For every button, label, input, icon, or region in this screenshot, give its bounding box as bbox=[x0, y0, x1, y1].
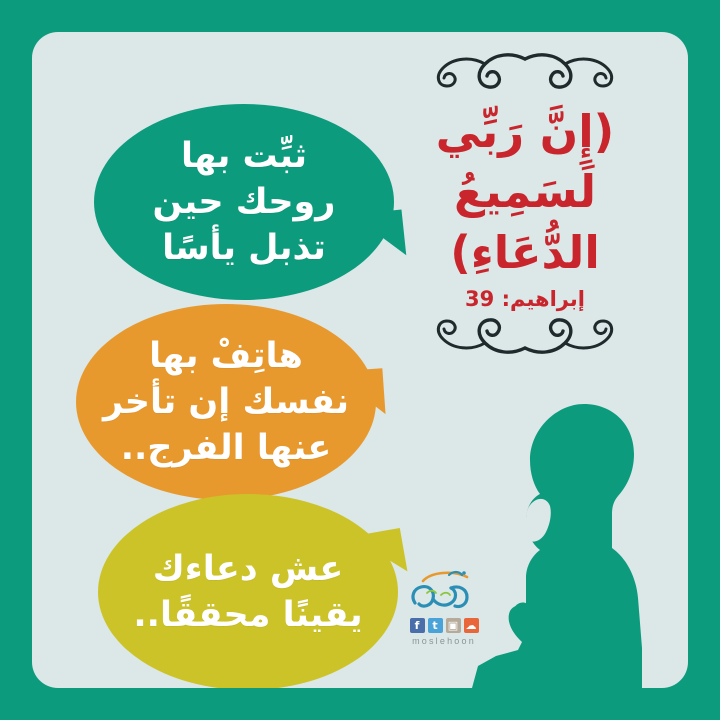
speech-bubble-teal[interactable]: ثبِّت بها روحك حين تذبل يأسًا bbox=[94, 104, 394, 300]
twitter-icon[interactable]: t bbox=[428, 618, 443, 633]
speech-bubble-yellow[interactable]: عش دعاءك يقينًا محققًا.. bbox=[98, 494, 398, 688]
verse-column: (إِنَّ رَبِّي لَسَمِيعُ الدُّعَاءِ) إبرا… bbox=[384, 50, 666, 357]
instagram-icon[interactable]: ▣ bbox=[446, 618, 461, 633]
speech-bubble-orange-text: هاتِفْ بها نفسك إن تأخر عنها الفرج.. bbox=[76, 333, 376, 472]
verse-reference: إبراهيم: 39 bbox=[384, 287, 666, 311]
speech-bubble-teal-text: ثبِّت بها روحك حين تذبل يأسًا bbox=[94, 133, 394, 272]
poster-card: (إِنَّ رَبِّي لَسَمِيعُ الدُّعَاءِ) إبرا… bbox=[32, 32, 688, 688]
poster-root: (إِنَّ رَبِّي لَسَمِيعُ الدُّعَاءِ) إبرا… bbox=[0, 0, 720, 720]
social-links-row[interactable]: f t ▣ ☁ bbox=[384, 618, 504, 633]
verse-text: (إِنَّ رَبِّي لَسَمِيعُ الدُّعَاءِ) bbox=[384, 102, 666, 283]
flourish-ornament-top bbox=[399, 50, 651, 94]
speech-bubble-orange[interactable]: هاتِفْ بها نفسك إن تأخر عنها الفرج.. bbox=[76, 304, 376, 500]
facebook-icon[interactable]: f bbox=[410, 618, 425, 633]
logo-block[interactable]: f t ▣ ☁ moslehoon bbox=[384, 569, 504, 646]
moslehoon-arabic-wordmark-icon bbox=[405, 569, 483, 615]
speech-bubble-yellow-text: عش دعاءك يقينًا محققًا.. bbox=[98, 546, 398, 638]
brand-name-latin: moslehoon bbox=[384, 636, 504, 646]
flourish-ornament-bottom bbox=[399, 313, 651, 357]
soundcloud-icon[interactable]: ☁ bbox=[464, 618, 479, 633]
